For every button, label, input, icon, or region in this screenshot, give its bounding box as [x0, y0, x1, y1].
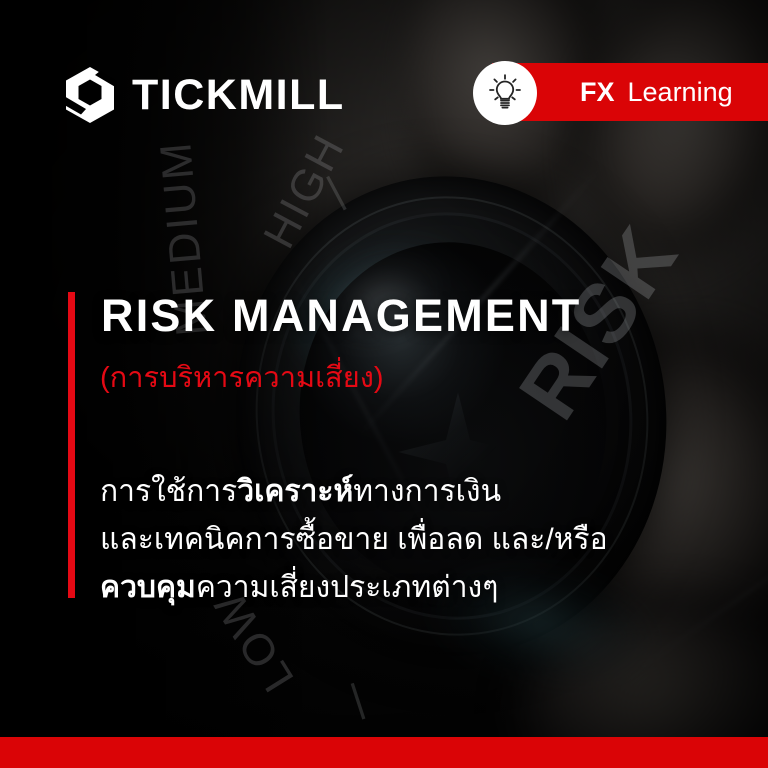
- body-line1-part1: การใช้การ: [100, 475, 237, 508]
- body-line1-bold: วิเคราะห์: [237, 475, 353, 508]
- page-subtitle-thai: (การบริหารความเสี่ยง): [100, 361, 384, 396]
- body-line-1: การใช้การวิเคราะห์ทางการเงิน: [100, 468, 608, 516]
- body-line3-bold: ควบคุม: [100, 571, 196, 604]
- body-line1-part2: ทางการเงิน: [353, 475, 501, 508]
- lightbulb-badge-circle: [473, 61, 537, 125]
- page-title: RISK MANAGEMENT: [101, 292, 582, 340]
- main-content: RISK MANAGEMENT (การบริหารความเสี่ยง) กา…: [0, 0, 768, 768]
- body-line-3: ควบคุมความเสี่ยงประเภทต่างๆ: [100, 564, 608, 612]
- bottom-red-strip: [0, 737, 768, 768]
- body-paragraph: การใช้การวิเคราะห์ทางการเงิน และเทคนิคกา…: [100, 468, 608, 612]
- poster-canvas: HIGH | MEDIUM LOW | RISK TICKMILL FXLear…: [0, 0, 768, 768]
- lightbulb-icon: [484, 72, 526, 114]
- body-line-2: และเทคนิคการซื้อขาย เพื่อลด และ/หรือ: [100, 516, 608, 564]
- body-line3-part: ความเสี่ยงประเภทต่างๆ: [196, 571, 499, 604]
- red-accent-bar: [68, 292, 75, 598]
